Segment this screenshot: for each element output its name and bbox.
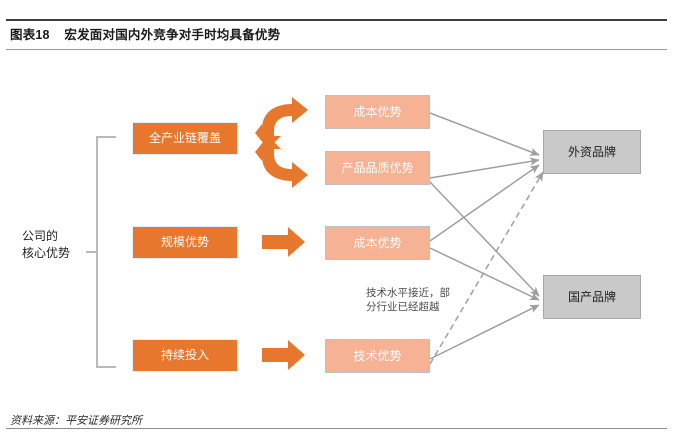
source-note: 资料来源：平安证券研究所 xyxy=(10,412,142,428)
arrow-fullchain-to-cost1 xyxy=(255,97,308,149)
annotation-line2: 分行业已经超越 xyxy=(366,300,486,314)
link-cost2-to-foreign xyxy=(430,165,539,241)
advantage-box-scale[interactable]: 规模优势 xyxy=(132,226,238,259)
arrow-scale-to-cost2 xyxy=(262,227,305,257)
outcome-label: 成本优势 xyxy=(353,105,401,119)
root-label: 公司的 核心优势 xyxy=(22,228,94,262)
annotation-tech-parity: 技术水平接近，部 分行业已经超越 xyxy=(366,286,486,314)
advantage-label: 全产业链覆盖 xyxy=(149,131,221,145)
advantage-box-continuous-investment[interactable]: 持续投入 xyxy=(132,339,238,372)
competitor-label: 外资品牌 xyxy=(568,145,616,159)
outcome-box-cost-advantage-2[interactable]: 成本优势 xyxy=(325,226,430,260)
advantage-box-full-chain[interactable]: 全产业链覆盖 xyxy=(132,122,238,155)
competitor-label: 国产品牌 xyxy=(568,290,616,304)
link-cost1-to-foreign xyxy=(430,113,539,155)
figure-container: 图表18 宏发面对国内外竞争对手时均具备优势 xyxy=(0,0,673,442)
advantage-label: 规模优势 xyxy=(161,235,209,249)
competitor-box-domestic-brand[interactable]: 国产品牌 xyxy=(543,275,641,319)
outcome-box-product-quality-advantage[interactable]: 产品品质优势 xyxy=(325,151,430,185)
root-label-line1: 公司的 xyxy=(22,228,94,245)
annotation-line1: 技术水平接近，部 xyxy=(366,286,486,300)
link-quality-to-domestic xyxy=(430,182,539,296)
footer-rule xyxy=(6,428,667,429)
link-quality-to-foreign xyxy=(430,160,539,178)
root-label-line2: 核心优势 xyxy=(22,245,94,262)
arrow-investment-to-tech xyxy=(262,340,305,370)
outcome-box-cost-advantage-1[interactable]: 成本优势 xyxy=(325,95,430,129)
bracket xyxy=(96,136,116,368)
arrow-fullchain-to-quality xyxy=(255,136,308,188)
outcome-label: 产品品质优势 xyxy=(341,161,413,175)
competitor-box-foreign-brand[interactable]: 外资品牌 xyxy=(543,130,641,174)
advantage-label: 持续投入 xyxy=(161,348,209,362)
outcome-label: 技术优势 xyxy=(353,349,401,363)
outcome-box-technology-advantage[interactable]: 技术优势 xyxy=(325,339,430,373)
outcome-label: 成本优势 xyxy=(353,236,401,250)
